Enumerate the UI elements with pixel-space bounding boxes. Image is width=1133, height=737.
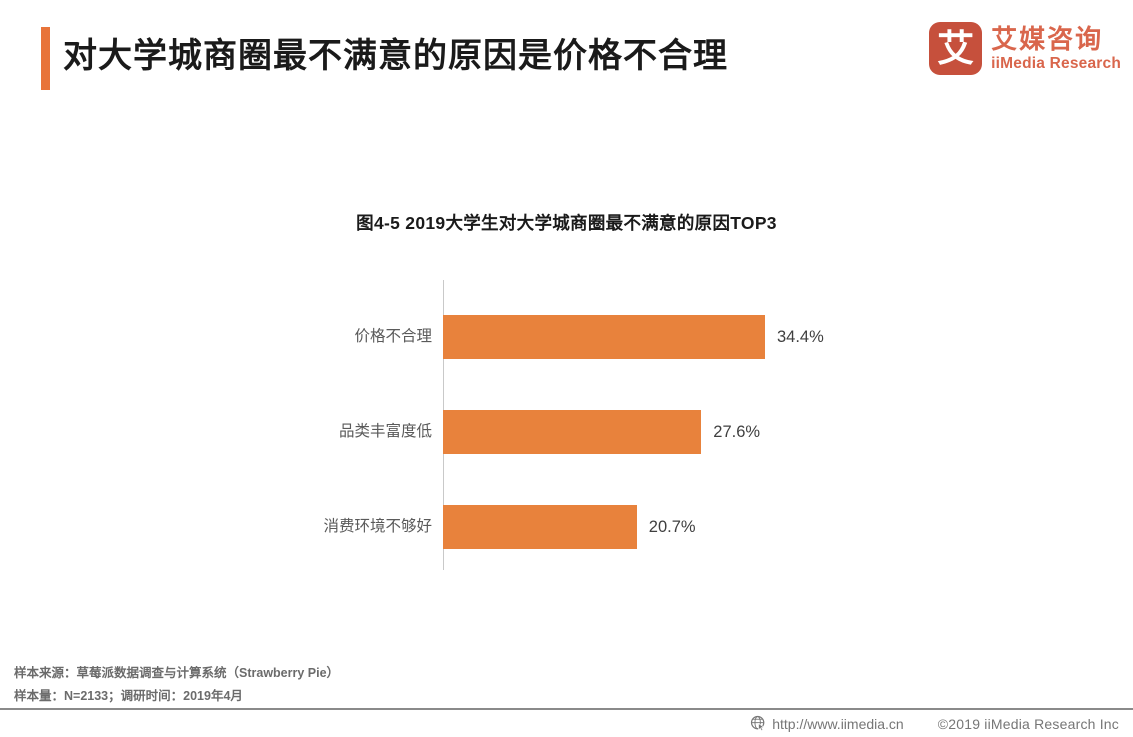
title-accent-bar — [41, 27, 50, 90]
chart-value-label: 27.6% — [713, 423, 760, 442]
chart-plot-area: 价格不合理 34.4% 品类丰富度低 27.6% 消费环境不够好 20.7% — [443, 280, 923, 570]
chart-value-label: 34.4% — [777, 328, 824, 347]
logo-name-cn: 艾媒咨询 — [991, 24, 1121, 54]
chart-bar-row: 价格不合理 34.4% — [443, 315, 824, 359]
logo-name-en: iiMedia Research — [991, 54, 1121, 73]
logo-mark-icon: 艾 — [929, 22, 982, 75]
globe-cursor-icon — [750, 715, 767, 732]
source-notes: 样本来源：草莓派数据调查与计算系统（Strawberry Pie） 样本量：N=… — [14, 662, 339, 708]
chart-category-label: 价格不合理 — [354, 315, 432, 359]
site-url-link[interactable]: http://www.iimedia.cn — [750, 715, 904, 732]
source-note-line: 样本来源：草莓派数据调查与计算系统（Strawberry Pie） — [14, 662, 339, 685]
chart-title: 图4-5 2019大学生对大学城商圈最不满意的原因TOP3 — [0, 210, 1133, 235]
chart-category-label: 品类丰富度低 — [339, 410, 432, 454]
chart-value-label: 20.7% — [649, 518, 696, 537]
chart-bar — [443, 505, 637, 549]
chart-bar — [443, 315, 765, 359]
chart-bar-row: 消费环境不够好 20.7% — [443, 505, 696, 549]
source-note-line: 样本量：N=2133；调研时间：2019年4月 — [14, 685, 339, 708]
brand-logo: 艾 艾媒咨询 iiMedia Research — [929, 22, 1121, 75]
copyright-text: ©2019 iiMedia Research Inc — [938, 716, 1119, 732]
chart-bar — [443, 410, 701, 454]
logo-mark-glyph: 艾 — [937, 28, 974, 69]
bottom-bar: http://www.iimedia.cn ©2019 iiMedia Rese… — [0, 710, 1133, 737]
page-header: 对大学城商圈最不满意的原因是价格不合理 艾 艾媒咨询 iiMedia Resea… — [0, 0, 1133, 120]
chart-container: 图4-5 2019大学生对大学城商圈最不满意的原因TOP3 价格不合理 34.4… — [0, 150, 1133, 610]
page-title: 对大学城商圈最不满意的原因是价格不合理 — [63, 26, 728, 86]
logo-text: 艾媒咨询 iiMedia Research — [991, 24, 1121, 73]
chart-bar-row: 品类丰富度低 27.6% — [443, 410, 760, 454]
site-url-text: http://www.iimedia.cn — [772, 716, 904, 732]
chart-category-label: 消费环境不够好 — [323, 505, 432, 549]
